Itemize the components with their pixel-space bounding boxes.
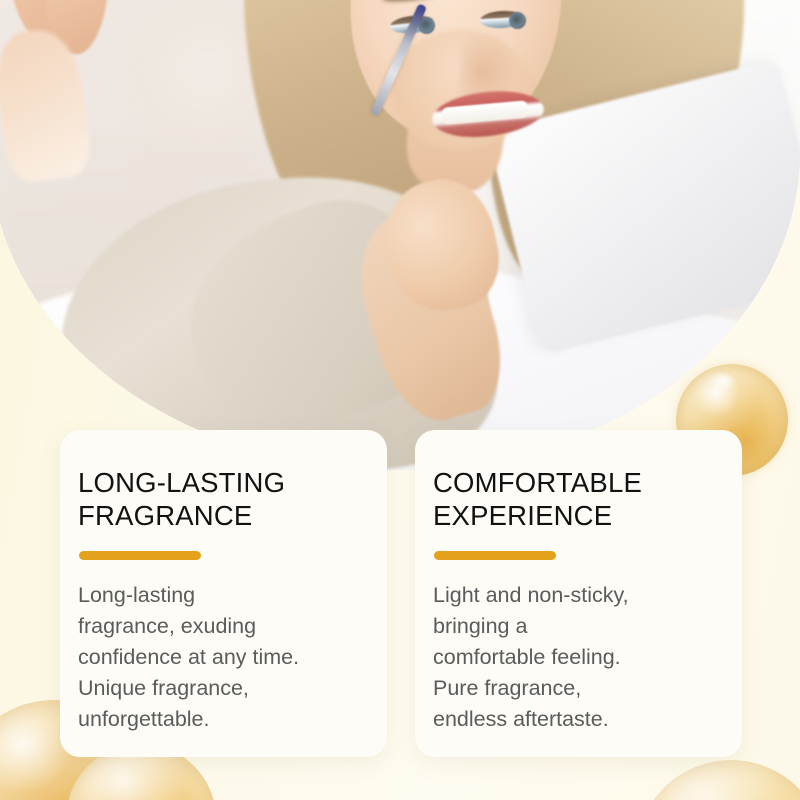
- feature-card-accent-bar: [434, 551, 556, 560]
- oil-bubble-bottom-right-icon: [636, 760, 800, 800]
- iris-right: [509, 12, 526, 29]
- feature-card-accent-bar: [79, 551, 201, 560]
- nose: [460, 30, 516, 100]
- feature-card-title: COMFORTABLE EXPERIENCE: [433, 466, 714, 532]
- feature-card-body: Light and non-sticky, bringing a comfort…: [433, 580, 714, 735]
- feature-card-title: LONG-LASTING FRAGRANCE: [78, 466, 359, 532]
- feature-card-long-lasting-fragrance: LONG-LASTING FRAGRANCE Long-lasting frag…: [60, 430, 387, 757]
- feature-card-list: LONG-LASTING FRAGRANCE Long-lasting frag…: [60, 430, 742, 757]
- product-feature-poster: LONG-LASTING FRAGRANCE Long-lasting frag…: [0, 0, 800, 800]
- feature-card-comfortable-experience: COMFORTABLE EXPERIENCE Light and non-sti…: [415, 430, 742, 757]
- feature-card-body: Long-lasting fragrance, exuding confiden…: [78, 580, 359, 735]
